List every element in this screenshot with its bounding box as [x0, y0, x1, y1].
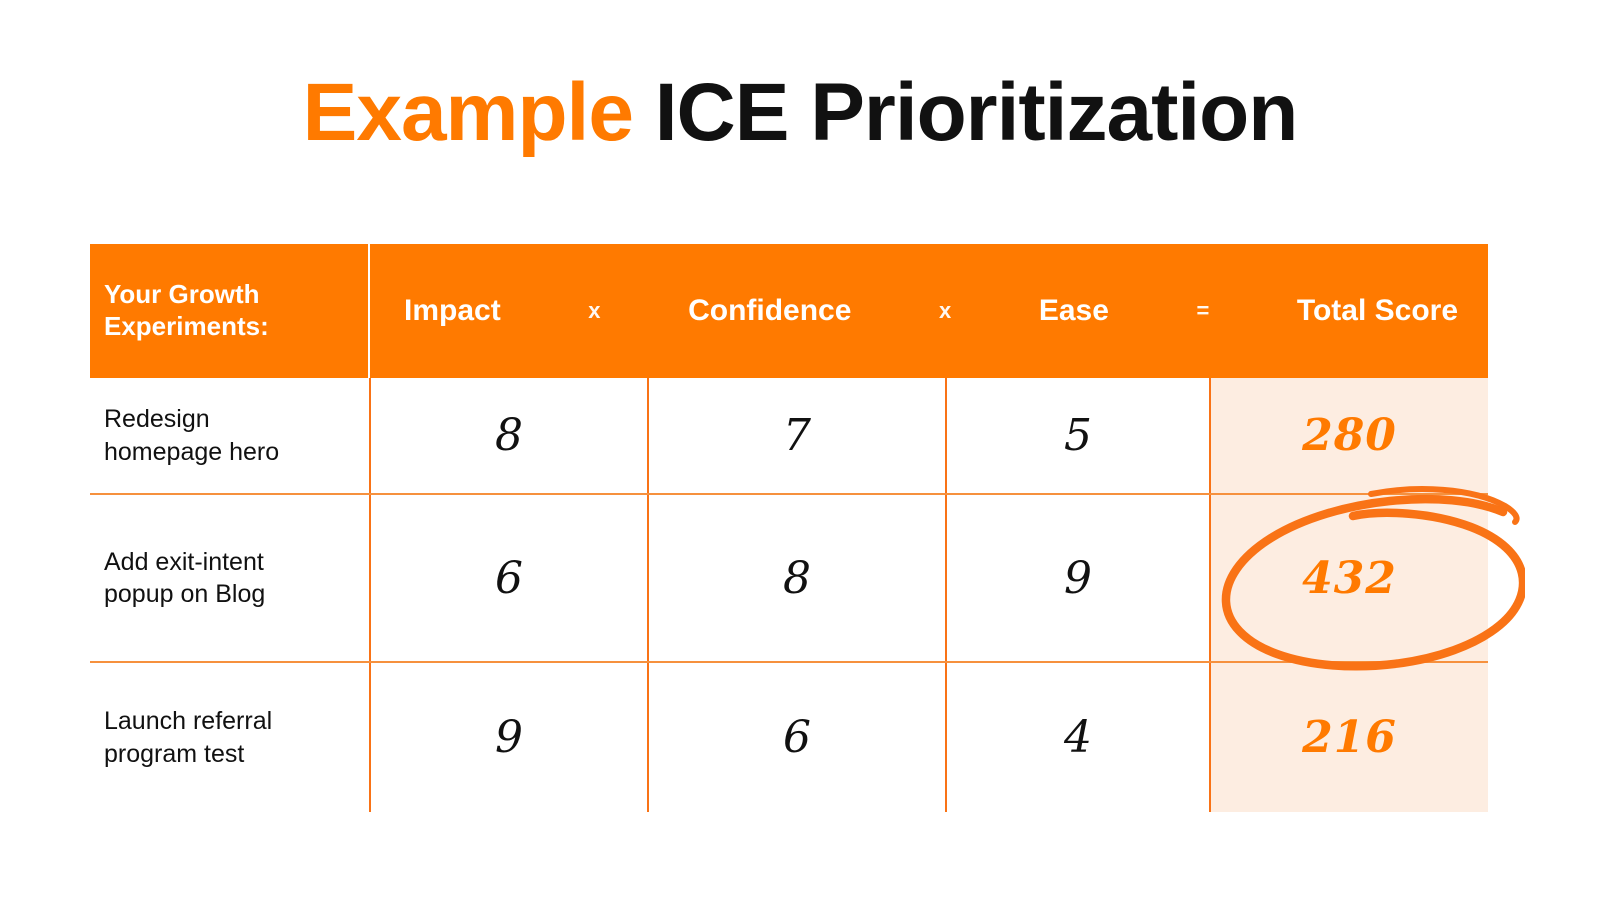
total-score-cell: 216	[1210, 662, 1488, 812]
header-experiments: Your Growth Experiments:	[90, 244, 370, 378]
header-total-score: Total Score	[1297, 294, 1458, 328]
title-rest: ICE Prioritization	[633, 67, 1297, 158]
experiment-name-line1: Redesign	[104, 403, 369, 436]
confidence-score-cell: 7	[648, 378, 946, 494]
header-metric-strip: Impact x Confidence x Ease = Total Score	[370, 244, 1488, 378]
header-experiments-line1: Your Growth	[104, 279, 370, 311]
ice-table-container: Your Growth Experiments: Impact x Confid…	[90, 244, 1488, 808]
experiment-name-line2: homepage hero	[104, 436, 369, 469]
experiment-name-cell: Add exit-intent popup on Blog	[90, 494, 370, 662]
experiment-name-line1: Launch referral	[104, 705, 369, 738]
header-experiments-line2: Experiments:	[104, 311, 370, 343]
experiment-name-cell: Launch referral program test	[90, 662, 370, 812]
experiment-name-line2: program test	[104, 738, 369, 771]
page-title: Example ICE Prioritization	[0, 72, 1600, 154]
experiment-name-line1: Add exit-intent	[104, 546, 369, 579]
header-metrics: Impact x Confidence x Ease = Total Score	[370, 244, 1488, 378]
experiment-name-cell: Redesign homepage hero	[90, 378, 370, 494]
slide-canvas: Example ICE Prioritization Your Growth E…	[0, 0, 1600, 900]
table-row: Add exit-intent popup on Blog 6 8 9 432	[90, 494, 1488, 662]
table-header: Your Growth Experiments: Impact x Confid…	[90, 244, 1488, 378]
total-score-cell: 280	[1210, 378, 1488, 494]
ease-score-cell: 9	[946, 494, 1210, 662]
table-row: Redesign homepage hero 8 7 5 280	[90, 378, 1488, 494]
ease-score-cell: 5	[946, 378, 1210, 494]
table-row: Launch referral program test 9 6 4 216	[90, 662, 1488, 812]
header-ease: Ease	[1039, 294, 1109, 328]
confidence-score-cell: 8	[648, 494, 946, 662]
confidence-score-cell: 6	[648, 662, 946, 812]
title-accent-word: Example	[303, 67, 633, 158]
header-operator-times-1: x	[588, 298, 600, 324]
header-confidence: Confidence	[688, 294, 851, 328]
header-operator-times-2: x	[939, 298, 951, 324]
experiment-name-line2: popup on Blog	[104, 578, 369, 611]
header-operator-equals: =	[1196, 298, 1209, 324]
total-score-cell-highlighted: 432	[1210, 494, 1488, 662]
impact-score-cell: 8	[370, 378, 648, 494]
impact-score-cell: 9	[370, 662, 648, 812]
header-row: Your Growth Experiments: Impact x Confid…	[90, 244, 1488, 378]
header-impact: Impact	[404, 294, 501, 328]
ice-prioritization-table: Your Growth Experiments: Impact x Confid…	[90, 244, 1488, 812]
impact-score-cell: 6	[370, 494, 648, 662]
table-body: Redesign homepage hero 8 7 5 280 Add exi…	[90, 378, 1488, 812]
ease-score-cell: 4	[946, 662, 1210, 812]
